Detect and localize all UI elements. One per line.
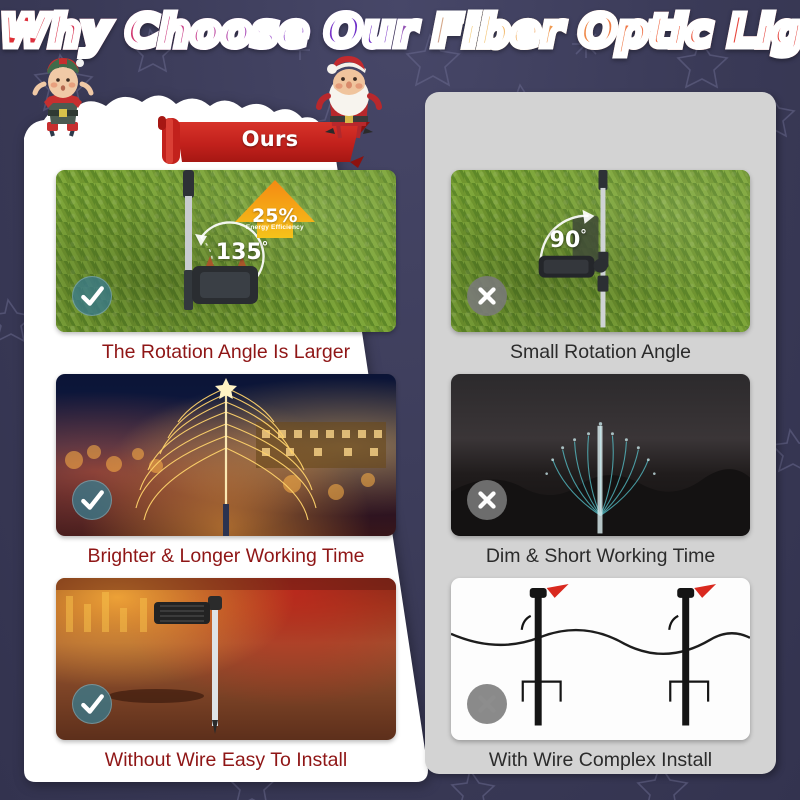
- row-caption: Small Rotation Angle: [451, 332, 750, 364]
- x-circle-icon: [467, 684, 507, 724]
- thumb-rotation-angle-ours[interactable]: 25% Energy Efficiency 135°: [56, 170, 396, 332]
- arrow-percent-label: 25%: [233, 207, 317, 226]
- elf-character-icon: [30, 52, 96, 138]
- thumb-rotation-angle-others[interactable]: 90°: [451, 170, 750, 332]
- others-row-3: With Wire Complex Install: [425, 578, 776, 772]
- others-row-1: 90° Small Rotation Angle: [425, 170, 776, 364]
- check-circle-icon: [72, 684, 112, 724]
- row-caption: Without Wire Easy To Install: [56, 740, 396, 772]
- row-caption: With Wire Complex Install: [451, 740, 750, 772]
- energy-efficiency-arrow-badge: 25% Energy Efficiency: [233, 178, 317, 240]
- row-caption: Brighter & Longer Working Time: [56, 536, 396, 568]
- thumb-wired-install-others[interactable]: [451, 578, 750, 740]
- row-caption: Dim & Short Working Time: [451, 536, 750, 568]
- page-title: Why Choose Our Fiber Optic Lights: [0, 6, 800, 57]
- thumb-bright-tree-ours[interactable]: [56, 374, 396, 536]
- thumb-wireless-install-ours[interactable]: [56, 578, 396, 740]
- others-row-2: Dim & Short Working Time: [425, 374, 776, 568]
- arrow-subtext-label: Energy Efficiency: [233, 224, 317, 231]
- ours-row-3: Without Wire Easy To Install: [24, 578, 428, 772]
- santa-character-icon: [312, 52, 384, 140]
- angle-value-90: 90°: [550, 228, 587, 253]
- angle-value-135: 135°: [216, 240, 268, 265]
- row-caption: The Rotation Angle Is Larger: [56, 332, 396, 364]
- check-circle-icon: [72, 480, 112, 520]
- ours-row-2: Brighter & Longer Working Time: [24, 374, 428, 568]
- ours-row-1: 25% Energy Efficiency 135° The Rotation …: [24, 170, 428, 364]
- x-circle-icon: [467, 276, 507, 316]
- ours-panel: 25% Energy Efficiency 135° The Rotation …: [24, 92, 428, 774]
- x-circle-icon: [467, 480, 507, 520]
- check-circle-icon: [72, 276, 112, 316]
- thumb-dim-light-others[interactable]: [451, 374, 750, 536]
- others-panel: 90° Small Rotation Angle: [425, 92, 776, 774]
